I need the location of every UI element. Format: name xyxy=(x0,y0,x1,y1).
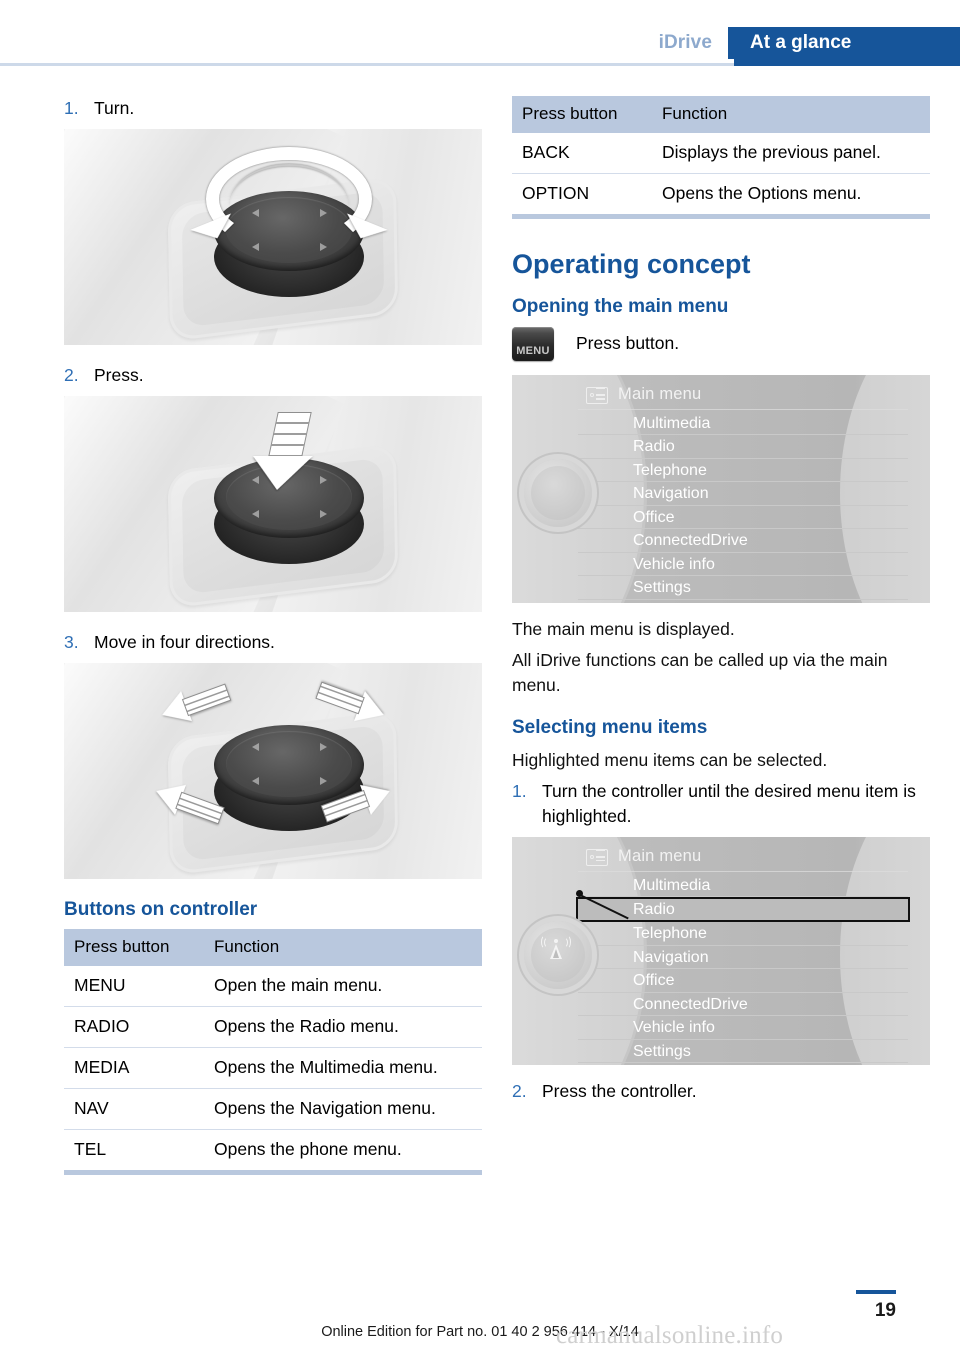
menu-item-settings[interactable]: Settings xyxy=(578,576,908,600)
cell-button: MENU xyxy=(64,966,204,1007)
step-number: 1. xyxy=(64,96,94,121)
menu-item-navigation[interactable]: Navigation xyxy=(578,946,908,970)
step-label: Turn. xyxy=(94,96,482,121)
menu-item-settings[interactable]: Settings xyxy=(578,1040,908,1064)
step-press: 2. Press. xyxy=(64,363,482,388)
menu-item-vehicle-info[interactable]: Vehicle info xyxy=(578,1016,908,1040)
selecting-menu-items-intro: Highlighted menu items can be selected. xyxy=(512,748,930,773)
table-row: OPTION Opens the Options menu. xyxy=(512,174,930,217)
illustration-controller-move xyxy=(64,663,482,879)
knob-marker-icon xyxy=(320,777,327,785)
buttons-on-controller-heading: Buttons on controller xyxy=(64,899,482,922)
idrive-functions-text: All iDrive functions can be called up vi… xyxy=(512,648,930,698)
buttons-on-controller-table: Press button Function MENU Open the main… xyxy=(64,929,482,1175)
cell-button: OPTION xyxy=(512,174,652,217)
press-button-function-table: Press button Function BACK Displays the … xyxy=(512,96,930,219)
table-row: MEDIA Opens the Multimedia menu. xyxy=(64,1048,482,1089)
footer-edition-note: Online Edition for Part no. 01 40 2 956 … xyxy=(0,1324,960,1340)
menu-item-connecteddrive[interactable]: ConnectedDrive xyxy=(578,993,908,1017)
page-footer: 19 Online Edition for Part no. 01 40 2 9… xyxy=(0,1282,960,1362)
menu-item-telephone[interactable]: Telephone xyxy=(578,459,908,483)
step-number: 1. xyxy=(512,779,542,829)
column-header-function: Function xyxy=(204,929,482,966)
cell-function: Opens the Options menu. xyxy=(652,174,930,217)
breadcrumb-idrive[interactable]: iDrive xyxy=(659,27,728,59)
step-press-controller: 2. Press the controller. xyxy=(512,1079,930,1104)
menu-button-icon[interactable]: MENU xyxy=(512,327,554,361)
main-menu-icon xyxy=(586,387,608,404)
step-number: 2. xyxy=(64,363,94,388)
opening-main-menu-heading: Opening the main menu xyxy=(512,296,930,319)
step-label: Turn the controller until the desired me… xyxy=(542,779,930,829)
breadcrumb-at-a-glance[interactable]: At a glance xyxy=(728,27,960,59)
cell-function: Opens the Navigation menu. xyxy=(204,1089,482,1130)
menu-key-instruction: MENU Press button. xyxy=(512,327,930,361)
knob-marker-icon xyxy=(252,777,259,785)
column-header-press-button: Press button xyxy=(64,929,204,966)
menu-item-office[interactable]: Office xyxy=(578,506,908,530)
table-row: RADIO Opens the Radio menu. xyxy=(64,1007,482,1048)
table-header-row: Press button Function xyxy=(512,96,930,133)
step-label: Press the controller. xyxy=(542,1079,930,1104)
cell-function: Open the main menu. xyxy=(204,966,482,1007)
step-number: 2. xyxy=(512,1079,542,1104)
column-header-function: Function xyxy=(652,96,930,133)
header-accent-bar xyxy=(734,59,960,66)
main-menu-displayed-text: The main menu is displayed. xyxy=(512,617,930,642)
controller-knob-graphic xyxy=(524,459,592,527)
step-number: 3. xyxy=(64,630,94,655)
screen-title-divider xyxy=(578,871,908,873)
footer-accent-rule xyxy=(856,1290,896,1294)
radio-tower-icon xyxy=(543,936,569,962)
screen-title-divider xyxy=(578,409,908,411)
cell-function: Opens the Radio menu. xyxy=(204,1007,482,1048)
table-row: NAV Opens the Navigation menu. xyxy=(64,1089,482,1130)
selecting-menu-items-heading: Selecting menu items xyxy=(512,717,930,740)
menu-item-multimedia[interactable]: Multimedia xyxy=(578,412,908,436)
cell-button: MEDIA xyxy=(64,1048,204,1089)
cell-button: RADIO xyxy=(64,1007,204,1048)
cell-button: BACK xyxy=(512,133,652,174)
menu-item-office[interactable]: Office xyxy=(578,969,908,993)
step-move: 3. Move in four directions. xyxy=(64,630,482,655)
page-number: 19 xyxy=(875,1300,896,1322)
screen-title: Main menu xyxy=(618,847,701,866)
header-tabs: iDrive At a glance xyxy=(659,27,960,59)
idrive-screen-radio-selected: Main menu Multimedia Radio Telephone Nav… xyxy=(512,837,930,1065)
controller-knob-face xyxy=(226,731,352,797)
knob-marker-icon xyxy=(252,510,259,518)
menu-item-telephone[interactable]: Telephone xyxy=(578,922,908,946)
knob-marker-icon xyxy=(320,510,327,518)
table-row: BACK Displays the previous panel. xyxy=(512,133,930,174)
knob-marker-icon xyxy=(252,743,259,751)
cell-button: NAV xyxy=(64,1089,204,1130)
cell-function: Opens the phone menu. xyxy=(204,1130,482,1173)
page-title: Operating concept xyxy=(512,249,930,280)
table-row: TEL Opens the phone menu. xyxy=(64,1130,482,1173)
idrive-screen-main-menu: Main menu Multimedia Radio Telephone Nav… xyxy=(512,375,930,603)
cell-function: Displays the previous panel. xyxy=(652,133,930,174)
menu-item-navigation[interactable]: Navigation xyxy=(578,482,908,506)
controller-knob-graphic xyxy=(524,921,592,989)
main-menu-icon xyxy=(586,849,608,866)
table-row: MENU Open the main menu. xyxy=(64,966,482,1007)
main-menu-list: Multimedia Radio Telephone Navigation Of… xyxy=(578,874,908,1064)
rotate-arc-icon xyxy=(206,147,372,251)
step-label: Move in four directions. xyxy=(94,630,482,655)
illustration-controller-turn xyxy=(64,129,482,345)
step-turn-controller: 1. Turn the controller until the desired… xyxy=(512,779,930,829)
left-column: 1. Turn. 2. Press. xyxy=(64,96,482,1179)
menu-item-vehicle-info[interactable]: Vehicle info xyxy=(578,553,908,577)
press-arrow-head-icon xyxy=(247,456,313,490)
right-column: Press button Function BACK Displays the … xyxy=(512,96,930,1112)
screen-title: Main menu xyxy=(618,385,701,404)
step-turn: 1. Turn. xyxy=(64,96,482,121)
menu-key-instruction-label: Press button. xyxy=(576,333,679,354)
page-header: iDrive At a glance xyxy=(0,0,960,66)
knob-marker-icon xyxy=(320,476,327,484)
column-header-press-button: Press button xyxy=(512,96,652,133)
step-label: Press. xyxy=(94,363,482,388)
watermark: carmanualsonline.info xyxy=(556,1322,783,1350)
cell-button: TEL xyxy=(64,1130,204,1173)
menu-item-multimedia[interactable]: Multimedia xyxy=(578,874,908,898)
menu-item-radio[interactable]: Radio xyxy=(578,435,908,459)
main-menu-list: Multimedia Radio Telephone Navigation Of… xyxy=(578,412,908,600)
knob-marker-icon xyxy=(320,743,327,751)
table-header-row: Press button Function xyxy=(64,929,482,966)
cell-function: Opens the Multimedia menu. xyxy=(204,1048,482,1089)
illustration-controller-press xyxy=(64,396,482,612)
menu-item-connecteddrive[interactable]: ConnectedDrive xyxy=(578,529,908,553)
